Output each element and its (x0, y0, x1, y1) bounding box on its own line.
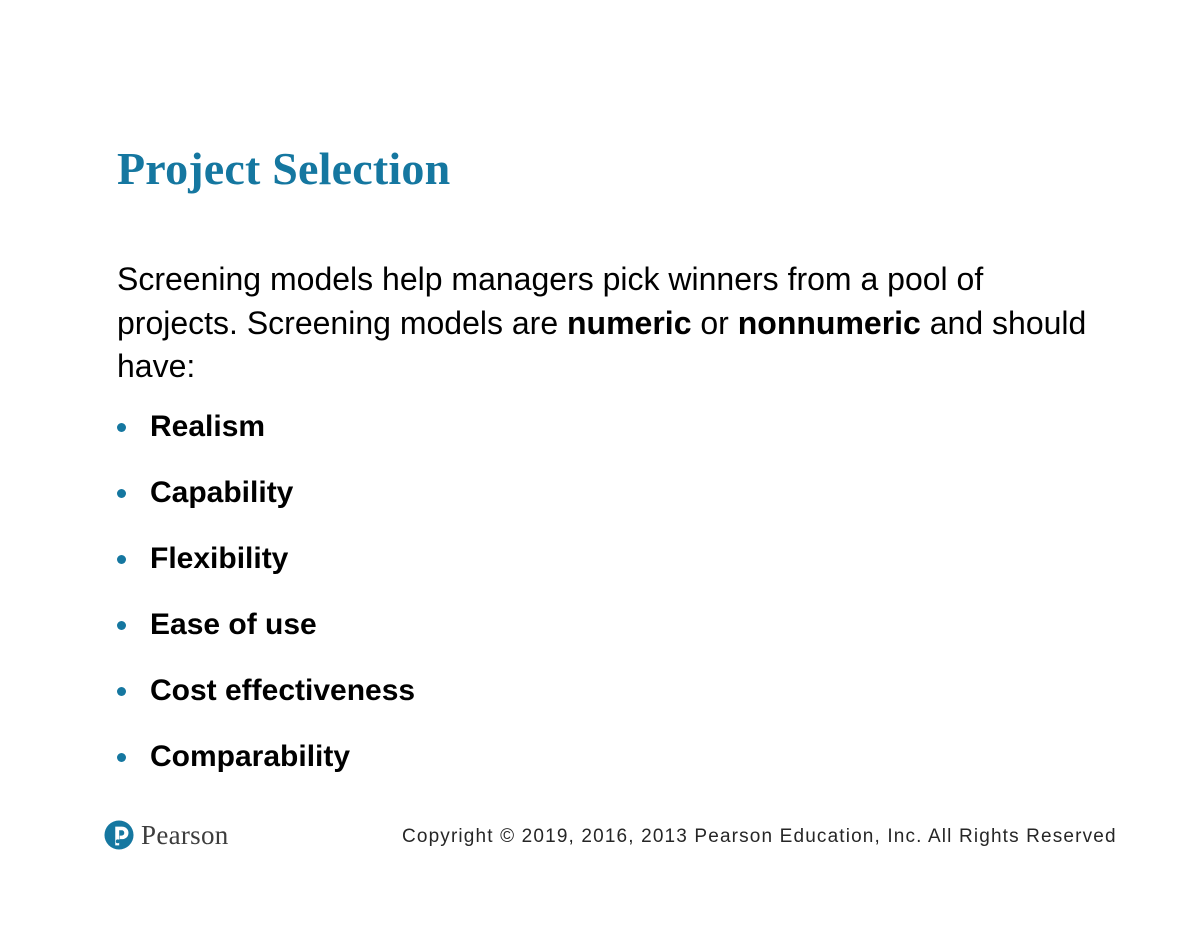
bullet-dot-icon (117, 621, 126, 630)
list-item: Realism (117, 408, 1097, 474)
body-emphasis-numeric: numeric (567, 305, 691, 341)
presentation-slide: Project Selection Screening models help … (0, 0, 1200, 927)
page-title: Project Selection (117, 143, 450, 195)
bullet-list: Realism Capability Flexibility Ease of u… (117, 408, 1097, 804)
list-item-label: Cost effectiveness (150, 672, 415, 710)
list-item-label: Flexibility (150, 540, 288, 578)
bullet-dot-icon (117, 753, 126, 762)
body-text-part-2: or (691, 305, 737, 341)
list-item-label: Capability (150, 474, 293, 512)
bullet-dot-icon (117, 687, 126, 696)
pearson-interlocking-p-icon (104, 820, 134, 850)
body-paragraph: Screening models help managers pick winn… (117, 258, 1107, 389)
list-item: Cost effectiveness (117, 672, 1097, 738)
list-item: Capability (117, 474, 1097, 540)
bullet-dot-icon (117, 423, 126, 432)
bullet-dot-icon (117, 555, 126, 564)
list-item: Comparability (117, 738, 1097, 804)
list-item: Flexibility (117, 540, 1097, 606)
list-item-label: Realism (150, 408, 265, 446)
copyright-notice: Copyright © 2019, 2016, 2013 Pearson Edu… (402, 825, 1117, 849)
list-item-label: Comparability (150, 738, 350, 776)
pearson-wordmark: Pearson (141, 820, 229, 850)
list-item-label: Ease of use (150, 606, 317, 644)
bullet-dot-icon (117, 489, 126, 498)
pearson-logo: Pearson (104, 820, 229, 850)
body-emphasis-nonnumeric: nonnumeric (738, 305, 921, 341)
list-item: Ease of use (117, 606, 1097, 672)
slide-footer: Pearson Copyright © 2019, 2016, 2013 Pea… (0, 815, 1200, 875)
